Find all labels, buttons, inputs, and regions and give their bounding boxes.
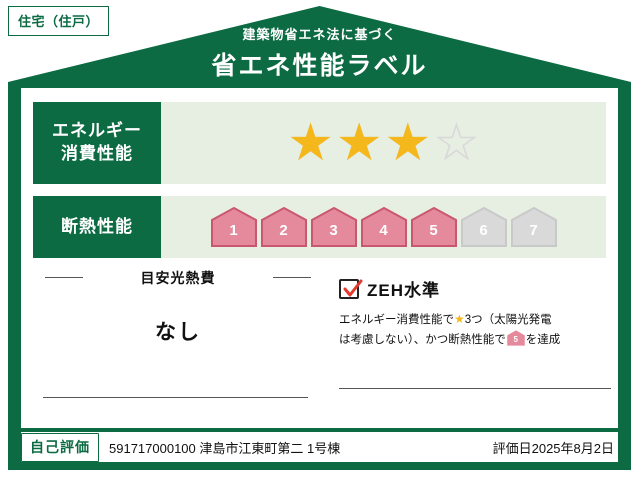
- star-rating: ★★★☆: [161, 117, 606, 169]
- grade-chip-number: 5: [411, 206, 457, 248]
- label-content-panel: エネルギー消費性能 ★★★☆ 断熱性能 1234567 目安光熱費 なし: [21, 88, 618, 428]
- grade-chip-inactive: 7: [511, 206, 557, 248]
- zeh-desc-part2: 3つ（太陽光発電: [465, 314, 552, 326]
- insulation-performance-row: 断熱性能 1234567: [33, 196, 606, 258]
- insulation-performance-row-body: 1234567: [161, 196, 606, 258]
- star-empty-icon: ☆: [433, 117, 480, 169]
- grade-chip-number: 7: [511, 206, 557, 248]
- insulation-grade-chips: 1234567: [161, 206, 606, 248]
- energy-performance-row: エネルギー消費性能 ★★★☆: [33, 102, 606, 184]
- grade-chip-number: 3: [311, 206, 357, 248]
- zeh-desc-part1: エネルギー消費性能で: [339, 314, 454, 326]
- grade-chip-number: 2: [261, 206, 307, 248]
- grade-chip-number: 1: [211, 206, 257, 248]
- label-footer: 自己評価 591717000100 津島市江東町第二 1号棟 評価日2025年8…: [21, 434, 618, 460]
- evaluation-date-text: 評価日2025年8月2日: [493, 438, 614, 457]
- insulation-performance-row-label: 断熱性能: [33, 196, 161, 258]
- grade-chip-active: 3: [311, 206, 357, 248]
- grade-chip-number: 6: [461, 206, 507, 248]
- estimated-utility-cost-section: 目安光熱費 なし: [33, 268, 323, 418]
- energy-performance-row-body: ★★★☆: [161, 102, 606, 184]
- checkbox-checked-icon: [339, 279, 359, 299]
- grade-chip-active: 1: [211, 206, 257, 248]
- zeh-section: ZEH水準 エネルギー消費性能で★3つ（太陽光発電 は考慮しない）、かつ断熱性能…: [339, 276, 611, 350]
- grade-chip-inactive: 6: [461, 206, 507, 248]
- cost-section-underline: [43, 397, 308, 398]
- grade-chip-active: 4: [361, 206, 407, 248]
- zeh-description: エネルギー消費性能で★3つ（太陽光発電 は考慮しない）、かつ断熱性能で5を達成: [339, 310, 611, 350]
- star-filled-icon: ★: [336, 117, 383, 169]
- zeh-desc-part3: は考慮しない）、かつ断熱性能で: [339, 334, 506, 346]
- estimated-utility-cost-value: なし: [33, 316, 323, 346]
- inline-grade-chip: 5: [507, 330, 525, 346]
- grade-chip-active: 2: [261, 206, 307, 248]
- heading-rule-right: [273, 277, 311, 278]
- zeh-desc-part4: を達成: [526, 334, 561, 346]
- zeh-section-underline: [339, 388, 611, 389]
- heading-rule-left: [45, 277, 83, 278]
- inline-star-icon: ★: [454, 312, 465, 326]
- property-address-text: 591717000100 津島市江東町第二 1号棟: [109, 438, 340, 457]
- grade-chip-active: 5: [411, 206, 457, 248]
- label-title: 省エネ性能ラベル: [8, 46, 631, 82]
- estimated-utility-cost-heading: 目安光熱費: [33, 268, 323, 286]
- zeh-title: ZEH水準: [367, 276, 440, 301]
- energy-performance-label-card: 建築物省エネ法に基づく 省エネ性能ラベル エネルギー消費性能 ★★★☆ 断熱性能…: [8, 6, 631, 470]
- star-filled-icon: ★: [385, 117, 432, 169]
- self-evaluation-badge: 自己評価: [21, 433, 99, 462]
- energy-performance-row-label: エネルギー消費性能: [33, 102, 161, 184]
- zeh-heading: ZEH水準: [339, 276, 611, 301]
- housing-type-tag: 住宅（住戸）: [8, 6, 109, 36]
- check-mark-icon: [341, 277, 365, 301]
- grade-chip-number: 4: [361, 206, 407, 248]
- energy-performance-label-text: エネルギー消費性能: [52, 120, 142, 166]
- inline-chip-number: 5: [507, 330, 525, 346]
- star-filled-icon: ★: [287, 117, 334, 169]
- estimated-utility-cost-heading-text: 目安光熱費: [141, 270, 216, 286]
